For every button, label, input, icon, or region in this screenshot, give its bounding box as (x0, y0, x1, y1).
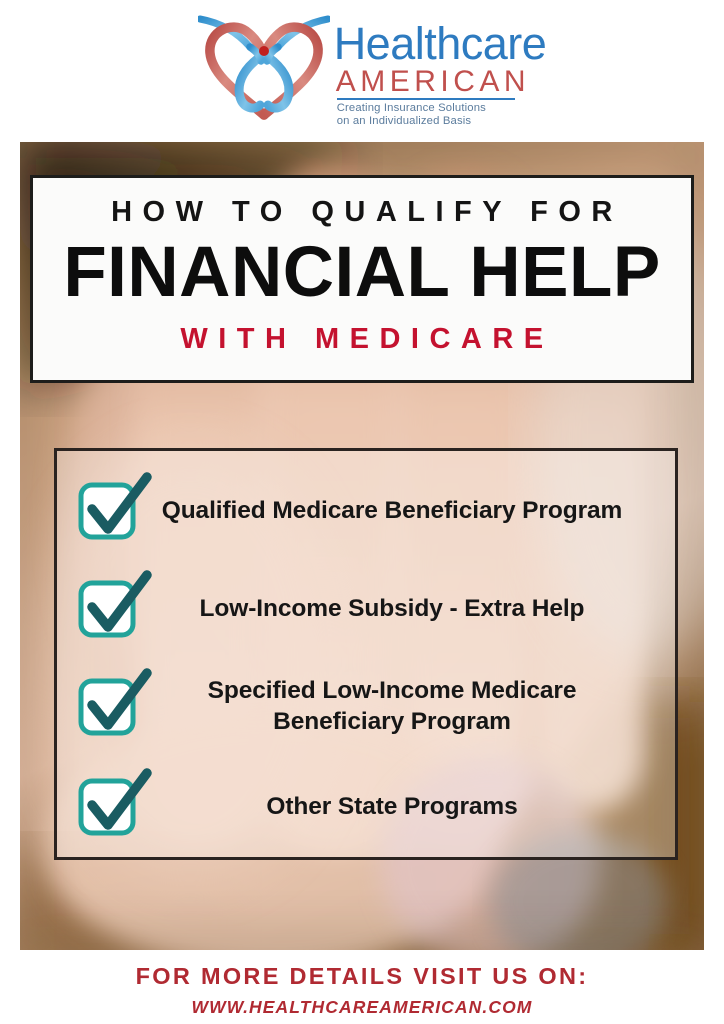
page-title: FINANCIAL HELP (63, 236, 660, 309)
brand-divider-rule (337, 98, 515, 100)
checklist-panel: Qualified Medicare Beneficiary Program L… (54, 448, 678, 860)
checkbox-checked-icon[interactable] (75, 775, 151, 839)
checkbox-checked-glyph (75, 663, 151, 739)
checkbox-checked-icon[interactable] (75, 577, 151, 641)
list-item[interactable]: Specified Low-Income Medicare Beneficiar… (57, 675, 675, 739)
heart-swoosh-logo-icon (198, 13, 330, 125)
footer: FOR MORE DETAILS VISIT US ON: WWW.HEALTH… (0, 950, 724, 1024)
brand-tagline-line-2: on an Individualized Basis (334, 115, 547, 129)
list-item-label: Qualified Medicare Beneficiary Program (151, 496, 675, 527)
checkbox-checked-icon[interactable] (75, 479, 151, 543)
checkbox-checked-icon[interactable] (75, 675, 151, 739)
list-item-label: Other State Programs (151, 792, 675, 823)
title-subline: WITH MEDICARE (170, 323, 553, 356)
list-item[interactable]: Qualified Medicare Beneficiary Program (57, 479, 675, 543)
brand-tagline-line-1: Creating Insurance Solutions (334, 102, 547, 116)
footer-website-url[interactable]: WWW.HEALTHCAREAMERICAN.COM (192, 997, 533, 1018)
checkbox-checked-glyph (75, 565, 151, 641)
list-item[interactable]: Low-Income Subsidy - Extra Help (57, 577, 675, 641)
poster-root: Healthcare AMERICAN Creating Insurance S… (0, 0, 724, 1024)
list-item-label: Low-Income Subsidy - Extra Help (151, 594, 675, 625)
checkbox-checked-glyph (75, 467, 151, 543)
brand-name-secondary: AMERICAN (334, 66, 547, 98)
brand-logo: Healthcare AMERICAN Creating Insurance S… (0, 0, 724, 142)
footer-call-to-action: FOR MORE DETAILS VISIT US ON: (136, 963, 589, 990)
list-item-label: Specified Low-Income Medicare Beneficiar… (151, 676, 675, 737)
brand-name-primary: Healthcare (334, 23, 547, 66)
checkbox-checked-glyph (75, 763, 151, 839)
title-card: HOW TO QUALIFY FOR FINANCIAL HELP WITH M… (30, 175, 694, 383)
title-kicker: HOW TO QUALIFY FOR (101, 196, 623, 229)
list-item[interactable]: Other State Programs (57, 775, 675, 839)
